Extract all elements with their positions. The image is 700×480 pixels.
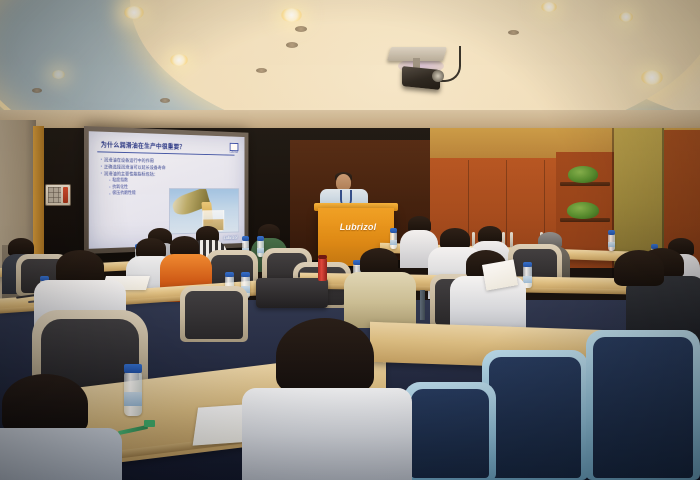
attendee-hair [56,250,104,284]
recessed-downlight [52,70,65,79]
conference-room-photo: 为什么润滑油在生产中很重要？ ▪ 润滑油在设备运行中的作用 ▪ 正确选择润滑油可… [0,0,700,480]
potted-plant [568,166,598,183]
ceiling-speaker [32,88,42,93]
attendee-torso [242,388,412,480]
bottle-cap [225,272,234,277]
recessed-downlight [541,2,557,12]
attendee-hair [170,236,199,256]
ceiling-speaker [160,98,170,103]
control-panel-keypad-icon[interactable] [48,187,61,203]
attendee-hair [136,238,166,258]
chair-cyan-frame[interactable] [404,382,496,480]
ceiling-speaker [508,30,519,35]
attendee-torso [344,272,416,328]
bullet-icon: ▪ [101,164,102,170]
recessed-downlight [124,6,144,19]
bullet-icon: ▪ [101,171,102,177]
chair-cyan-frame[interactable] [482,350,588,480]
water-bottle[interactable] [390,232,397,249]
chair-seat-pad [489,357,581,478]
chair-cyan-frame[interactable] [586,330,700,480]
bottle-cap [390,228,397,233]
ceiling-speaker [295,26,307,32]
bullet-icon: • [109,178,110,184]
thermos-cap [318,255,327,259]
chair-seat-pad [185,291,243,339]
brand-name: Lubrizol [229,151,239,154]
control-panel-power-icon[interactable] [63,187,68,203]
ceiling-speaker [256,68,267,73]
bottle-label [608,242,615,247]
bottle-label [124,392,142,406]
bottle-cap [608,230,615,235]
bottle-cap [242,236,249,241]
bottle-cap [124,364,142,373]
slide-title-rule [97,151,234,155]
bottle-cap [523,262,532,267]
attendee-hair [614,250,664,286]
bullet-icon: • [109,191,110,197]
bottle-label [257,248,264,253]
potted-plant [567,202,599,219]
chair-beige-frame[interactable] [180,286,248,342]
chair-seat-pad [593,337,693,478]
bottle-label [523,276,532,283]
bullet-icon: • [109,184,110,190]
recessed-downlight [170,54,188,66]
recessed-downlight [619,12,633,22]
attendee-hair [440,228,470,249]
red-thermos[interactable] [318,258,327,281]
bottle-label [390,240,397,245]
slide-subbullet-text: 极压抗磨性能 [112,190,135,197]
slide-logo-top-right: Lubrizol [229,143,239,154]
attendee-hair [276,318,374,394]
handout-paper[interactable] [482,259,518,290]
chair-seat-pad [411,389,489,478]
bottle-cap [241,272,250,277]
laptop-bag[interactable] [256,278,328,308]
water-bottle[interactable] [124,372,142,416]
recessed-downlight [641,70,663,85]
recessed-downlight [281,8,302,22]
water-bottle[interactable] [608,234,615,251]
ceiling-speaker [286,42,298,48]
attendee-hair [2,374,88,434]
table-leg [420,290,425,320]
slide-title: 为什么润滑油在生产中很重要？ [101,139,220,152]
podium-brand-label: Lubrizol [332,222,384,232]
pen[interactable] [144,420,155,427]
attendee-hair [360,248,398,274]
projector-lens-icon [432,70,444,82]
attendee-torso [0,428,122,480]
wall-control-panel[interactable] [45,184,71,206]
bullet-icon: ▪ [101,157,102,163]
bottle-cap [257,236,264,241]
slide-logo-bottom-right: Lubrizol [224,236,238,241]
